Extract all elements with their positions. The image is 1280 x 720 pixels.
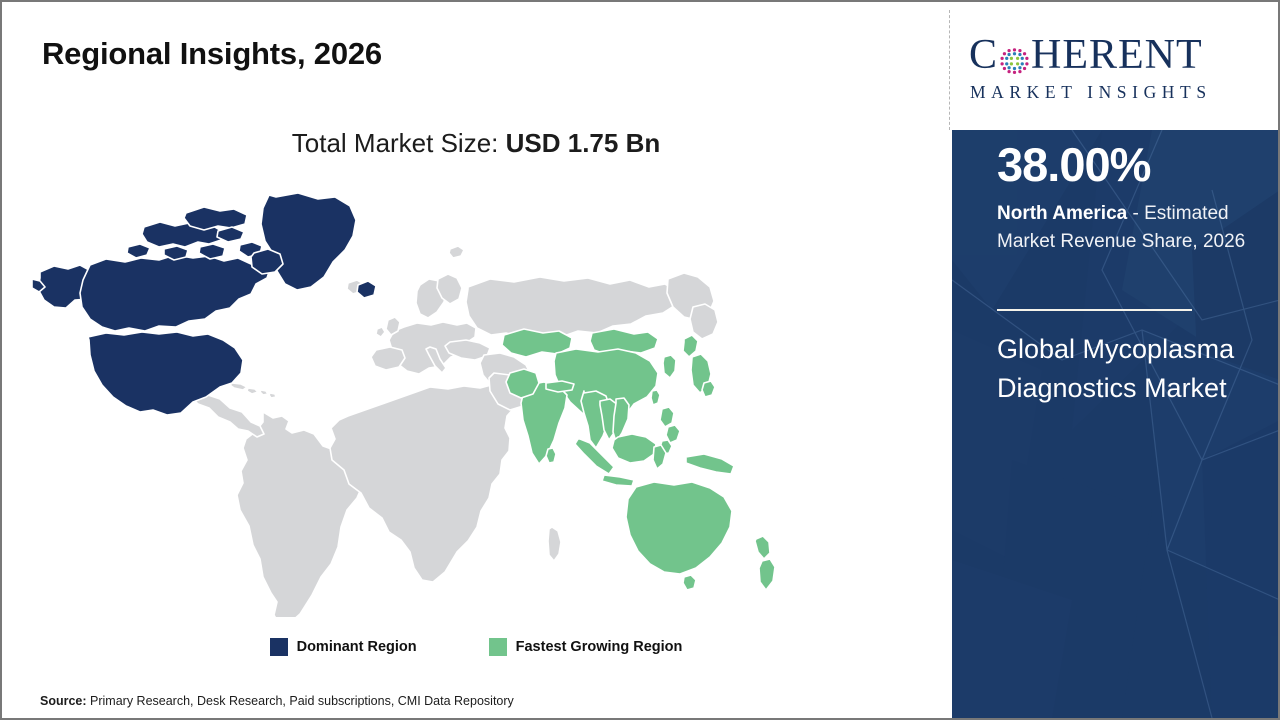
map-legend: Dominant Region Fastest Growing Region: [2, 638, 950, 656]
vertical-dashed-divider: [949, 10, 950, 130]
left-content-pane: Regional Insights, 2026 Total Market Siz…: [2, 2, 950, 718]
insight-panel-content: 38.00% North America - Estimated Market …: [952, 130, 1280, 718]
legend-item-dominant: Dominant Region: [270, 638, 417, 656]
stat-description: North America - Estimated Market Revenue…: [997, 200, 1267, 255]
map-region-rest-of-world: [173, 246, 718, 617]
legend-label-fastest-growing: Fastest Growing Region: [516, 639, 683, 655]
report-title: Global Mycoplasma Diagnostics Market: [997, 330, 1259, 409]
source-key: Source:: [40, 694, 90, 708]
total-market-size-line: Total Market Size: USD 1.75 Bn: [2, 128, 950, 159]
logo-wordmark-c: C: [969, 34, 998, 76]
map-region-north-america: [32, 193, 376, 415]
globe-dots-icon: [999, 43, 1030, 74]
logo-wordmark: C: [969, 34, 1203, 76]
source-text: Primary Research, Desk Research, Paid su…: [90, 694, 514, 708]
stat-percentage: 38.00%: [997, 141, 1150, 188]
source-line: Source: Primary Research, Desk Research,…: [40, 694, 514, 708]
market-size-label: Total Market Size:: [292, 128, 506, 158]
logo-wordmark-herent: HERENT: [1031, 34, 1203, 76]
stat-region-name: North America: [997, 203, 1127, 224]
legend-swatch-dominant-icon: [270, 638, 288, 656]
legend-swatch-fastest-icon: [489, 638, 507, 656]
legend-label-dominant: Dominant Region: [297, 639, 417, 655]
coherent-market-insights-logo: C: [957, 16, 1280, 116]
world-map: [32, 187, 842, 617]
map-region-asia-pacific: [502, 329, 775, 590]
page-title: Regional Insights, 2026: [42, 36, 382, 72]
world-map-svg: [32, 187, 842, 617]
insight-panel: 38.00% North America - Estimated Market …: [952, 130, 1280, 718]
panel-divider: [997, 309, 1192, 311]
legend-item-fastest-growing: Fastest Growing Region: [489, 638, 683, 656]
regional-insights-slide: Regional Insights, 2026 Total Market Siz…: [0, 0, 1280, 720]
logo-subtitle: MARKET INSIGHTS: [970, 82, 1212, 103]
market-size-value: USD 1.75 Bn: [506, 128, 661, 158]
